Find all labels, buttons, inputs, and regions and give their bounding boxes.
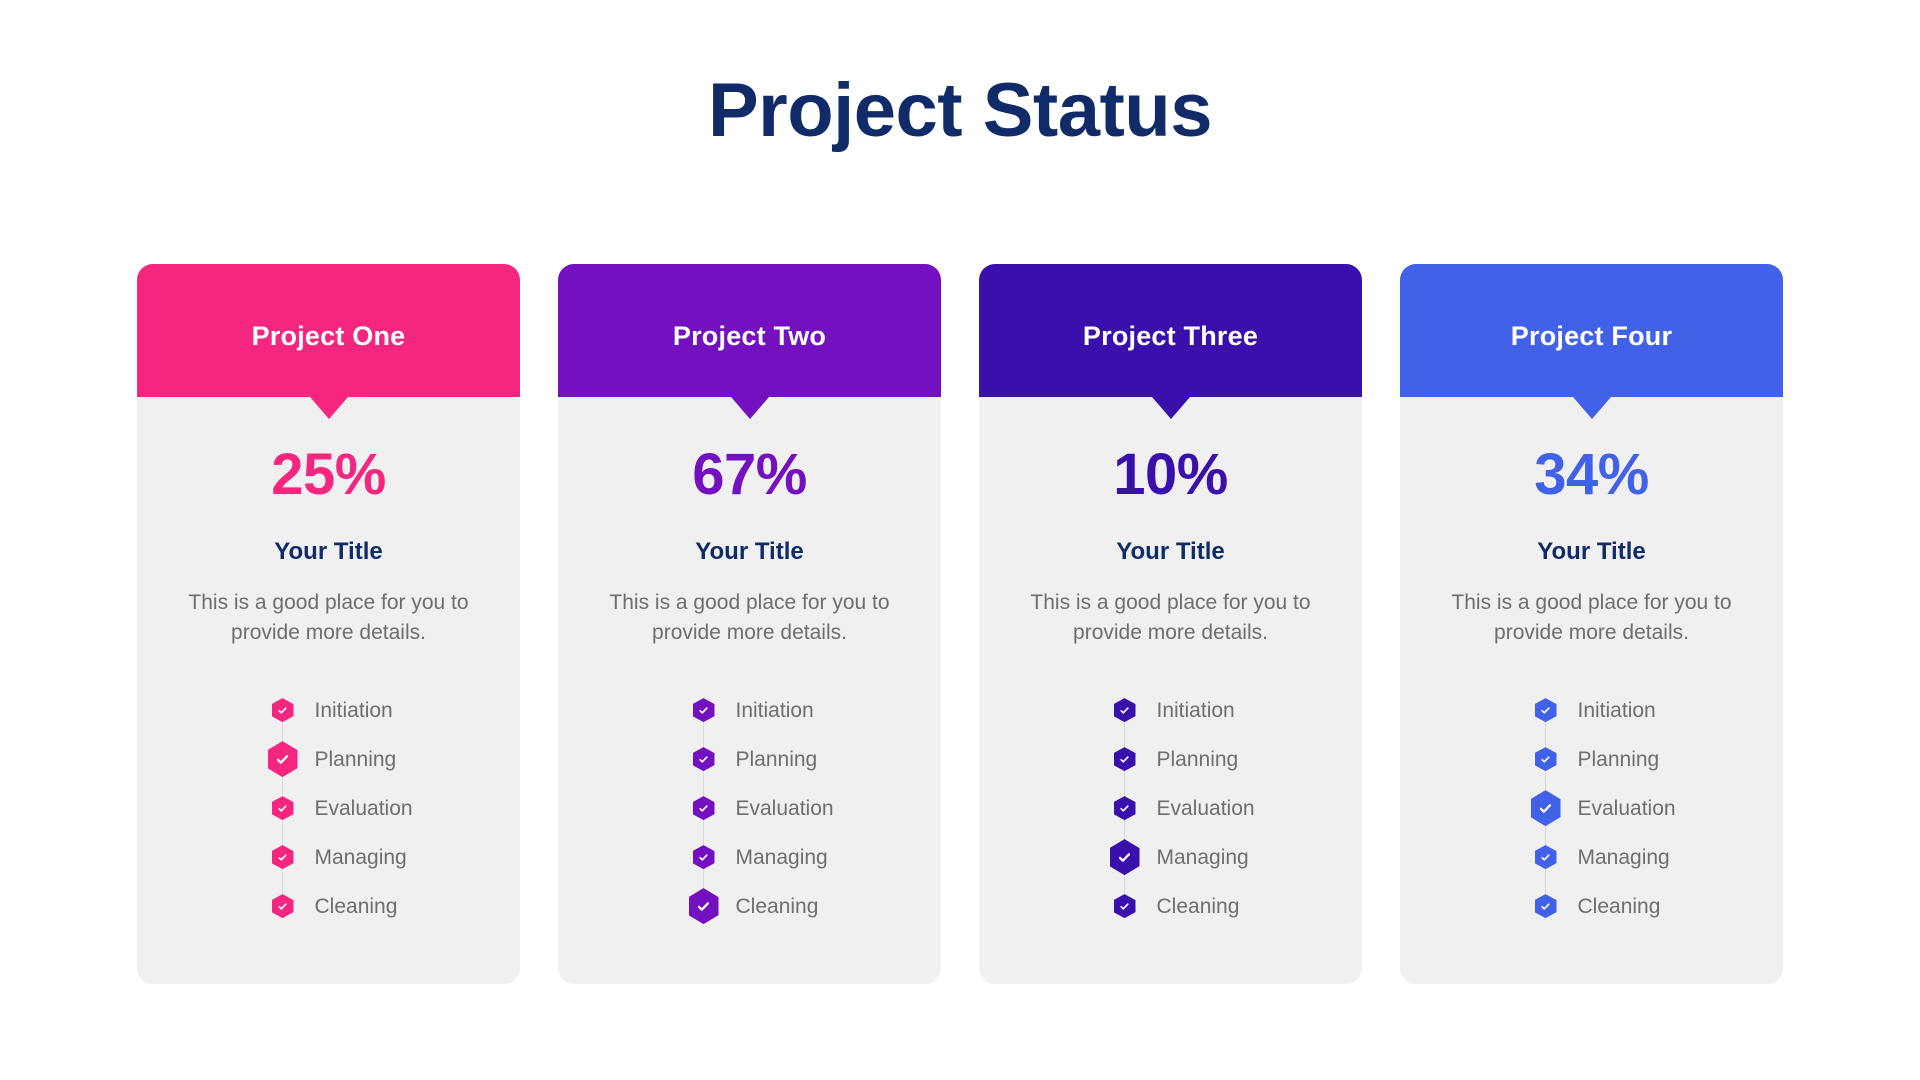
card-description: This is a good place for you to provide … xyxy=(1006,588,1336,648)
checklist-item-initiation[interactable]: Initiation xyxy=(1531,686,1717,735)
checklist-item-cleaning[interactable]: Cleaning xyxy=(1531,882,1717,931)
checklist-item-cleaning[interactable]: Cleaning xyxy=(689,882,875,931)
card-checklist: InitiationPlanningEvaluationManagingClea… xyxy=(1046,686,1296,931)
card-checklist: InitiationPlanningEvaluationManagingClea… xyxy=(1467,686,1717,931)
project-card-two[interactable]: Project Two67%Your TitleThis is a good p… xyxy=(558,264,941,984)
checklist-item-planning[interactable]: Planning xyxy=(268,735,454,784)
checklist-item-managing[interactable]: Managing xyxy=(1110,833,1296,882)
checklist-item-managing[interactable]: Managing xyxy=(268,833,454,882)
checklist-item-label: Evaluation xyxy=(1157,798,1255,819)
card-header-two[interactable]: Project Two xyxy=(558,264,941,397)
card-header-one[interactable]: Project One xyxy=(137,264,520,397)
checklist-item-label: Managing xyxy=(1578,847,1670,868)
project-card-deck: Project One25%Your TitleThis is a good p… xyxy=(137,264,1783,984)
hexagon-check-badge-icon xyxy=(1531,793,1561,823)
hexagon-check-badge-icon xyxy=(1110,842,1140,872)
checklist-item-label: Initiation xyxy=(736,700,814,721)
checklist-item-evaluation[interactable]: Evaluation xyxy=(1531,784,1717,833)
checklist-item-label: Planning xyxy=(1157,749,1239,770)
checklist-item-label: Cleaning xyxy=(1578,896,1661,917)
checklist-item-label: Managing xyxy=(1157,847,1249,868)
card-percent-value: 25% xyxy=(271,446,386,504)
hexagon-check-badge-icon xyxy=(1110,744,1140,774)
checklist-item-cleaning[interactable]: Cleaning xyxy=(268,882,454,931)
hexagon-check-badge-icon xyxy=(268,793,298,823)
checklist-item-evaluation[interactable]: Evaluation xyxy=(268,784,454,833)
checklist-item-initiation[interactable]: Initiation xyxy=(1110,686,1296,735)
hexagon-check-badge-icon xyxy=(268,891,298,921)
hexagon-check-badge-icon xyxy=(689,842,719,872)
hexagon-check-badge-icon xyxy=(1531,891,1561,921)
card-header-title: Project Three xyxy=(1083,321,1258,352)
card-description: This is a good place for you to provide … xyxy=(164,588,494,648)
checklist-item-managing[interactable]: Managing xyxy=(1531,833,1717,882)
card-subtitle: Your Title xyxy=(274,540,382,564)
card-subtitle: Your Title xyxy=(695,540,803,564)
card-percent-value: 10% xyxy=(1113,446,1228,504)
hexagon-check-badge-icon xyxy=(1110,695,1140,725)
hexagon-check-badge-icon xyxy=(689,891,719,921)
checklist-item-evaluation[interactable]: Evaluation xyxy=(1110,784,1296,833)
hexagon-check-badge-icon xyxy=(1110,891,1140,921)
card-percent-value: 34% xyxy=(1534,446,1649,504)
checklist-item-label: Managing xyxy=(736,847,828,868)
card-percent-value: 67% xyxy=(692,446,807,504)
checklist-item-planning[interactable]: Planning xyxy=(689,735,875,784)
card-checklist: InitiationPlanningEvaluationManagingClea… xyxy=(204,686,454,931)
checklist-item-label: Cleaning xyxy=(315,896,398,917)
project-card-four[interactable]: Project Four34%Your TitleThis is a good … xyxy=(1400,264,1783,984)
checklist-item-label: Planning xyxy=(315,749,397,770)
checklist-item-cleaning[interactable]: Cleaning xyxy=(1110,882,1296,931)
checklist-item-label: Planning xyxy=(1578,749,1660,770)
hexagon-check-badge-icon xyxy=(268,744,298,774)
project-card-three[interactable]: Project Three10%Your TitleThis is a good… xyxy=(979,264,1362,984)
checklist-item-initiation[interactable]: Initiation xyxy=(689,686,875,735)
card-checklist: InitiationPlanningEvaluationManagingClea… xyxy=(625,686,875,931)
checklist-item-label: Managing xyxy=(315,847,407,868)
checklist-item-label: Initiation xyxy=(1157,700,1235,721)
card-body-one: 25%Your TitleThis is a good place for yo… xyxy=(137,397,520,984)
page-title: Project Status xyxy=(0,68,1920,153)
checklist-item-label: Initiation xyxy=(1578,700,1656,721)
checklist-item-managing[interactable]: Managing xyxy=(689,833,875,882)
checklist-item-planning[interactable]: Planning xyxy=(1110,735,1296,784)
card-body-two: 67%Your TitleThis is a good place for yo… xyxy=(558,397,941,984)
checklist-item-label: Planning xyxy=(736,749,818,770)
checklist-item-planning[interactable]: Planning xyxy=(1531,735,1717,784)
card-body-four: 34%Your TitleThis is a good place for yo… xyxy=(1400,397,1783,984)
card-body-three: 10%Your TitleThis is a good place for yo… xyxy=(979,397,1362,984)
project-card-one[interactable]: Project One25%Your TitleThis is a good p… xyxy=(137,264,520,984)
hexagon-check-badge-icon xyxy=(689,695,719,725)
card-description: This is a good place for you to provide … xyxy=(585,588,915,648)
card-description: This is a good place for you to provide … xyxy=(1427,588,1757,648)
card-subtitle: Your Title xyxy=(1116,540,1224,564)
card-pointer-triangle xyxy=(310,397,348,419)
hexagon-check-badge-icon xyxy=(268,842,298,872)
card-header-title: Project Two xyxy=(673,321,826,352)
hexagon-check-badge-icon xyxy=(1110,793,1140,823)
slide-canvas: Project Status Project One25%Your TitleT… xyxy=(0,0,1920,1080)
card-pointer-triangle xyxy=(731,397,769,419)
hexagon-check-badge-icon xyxy=(689,793,719,823)
hexagon-check-badge-icon xyxy=(268,695,298,725)
card-header-three[interactable]: Project Three xyxy=(979,264,1362,397)
checklist-item-label: Evaluation xyxy=(736,798,834,819)
checklist-item-label: Cleaning xyxy=(1157,896,1240,917)
card-header-title: Project Four xyxy=(1511,321,1672,352)
checklist-item-evaluation[interactable]: Evaluation xyxy=(689,784,875,833)
card-pointer-triangle xyxy=(1573,397,1611,419)
hexagon-check-badge-icon xyxy=(1531,744,1561,774)
checklist-item-label: Initiation xyxy=(315,700,393,721)
hexagon-check-badge-icon xyxy=(1531,842,1561,872)
card-header-four[interactable]: Project Four xyxy=(1400,264,1783,397)
card-pointer-triangle xyxy=(1152,397,1190,419)
checklist-item-label: Evaluation xyxy=(1578,798,1676,819)
hexagon-check-badge-icon xyxy=(689,744,719,774)
hexagon-check-badge-icon xyxy=(1531,695,1561,725)
card-subtitle: Your Title xyxy=(1537,540,1645,564)
checklist-item-label: Cleaning xyxy=(736,896,819,917)
checklist-item-initiation[interactable]: Initiation xyxy=(268,686,454,735)
checklist-item-label: Evaluation xyxy=(315,798,413,819)
card-header-title: Project One xyxy=(252,321,406,352)
